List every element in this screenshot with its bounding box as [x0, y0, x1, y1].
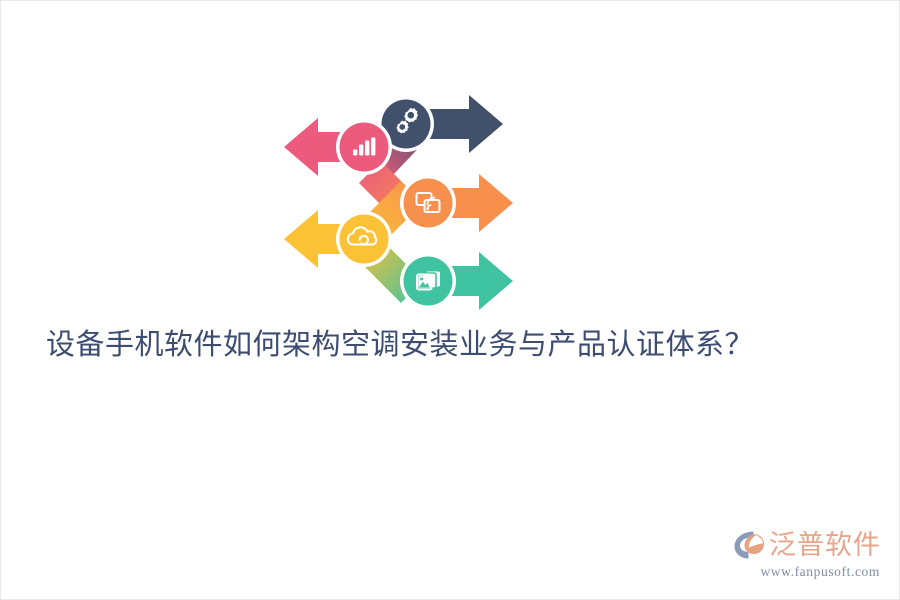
- arrow-item-photo-gallery[interactable]: [400, 252, 513, 310]
- page-title: 设备手机软件如何架构空调安装业务与产品认证体系？: [46, 323, 856, 367]
- brand-url: www.fanpusoft.com: [739, 563, 881, 580]
- arrow-item-screen-cast[interactable]: [400, 174, 513, 232]
- photo-gallery-icon: [417, 272, 440, 290]
- arrow-item-cloud-sync[interactable]: [284, 210, 392, 268]
- icon-circle-pink: [340, 123, 389, 172]
- watermark-logo: 泛普软件 www.fanpusoft.com: [739, 527, 881, 585]
- five-arrow-zigzag-diagram: [251, 51, 541, 321]
- icon-circle-yellow: [340, 215, 389, 264]
- arrow-item-gears[interactable]: [378, 95, 503, 153]
- brand-name: 泛普软件: [769, 530, 881, 560]
- page-canvas: 设备手机软件如何架构空调安装业务与产品认证体系？ 泛普软件 www.fanpus…: [0, 0, 900, 600]
- arrow-item-bar-chart[interactable]: [284, 118, 392, 176]
- fanpu-logo-icon: [733, 529, 767, 561]
